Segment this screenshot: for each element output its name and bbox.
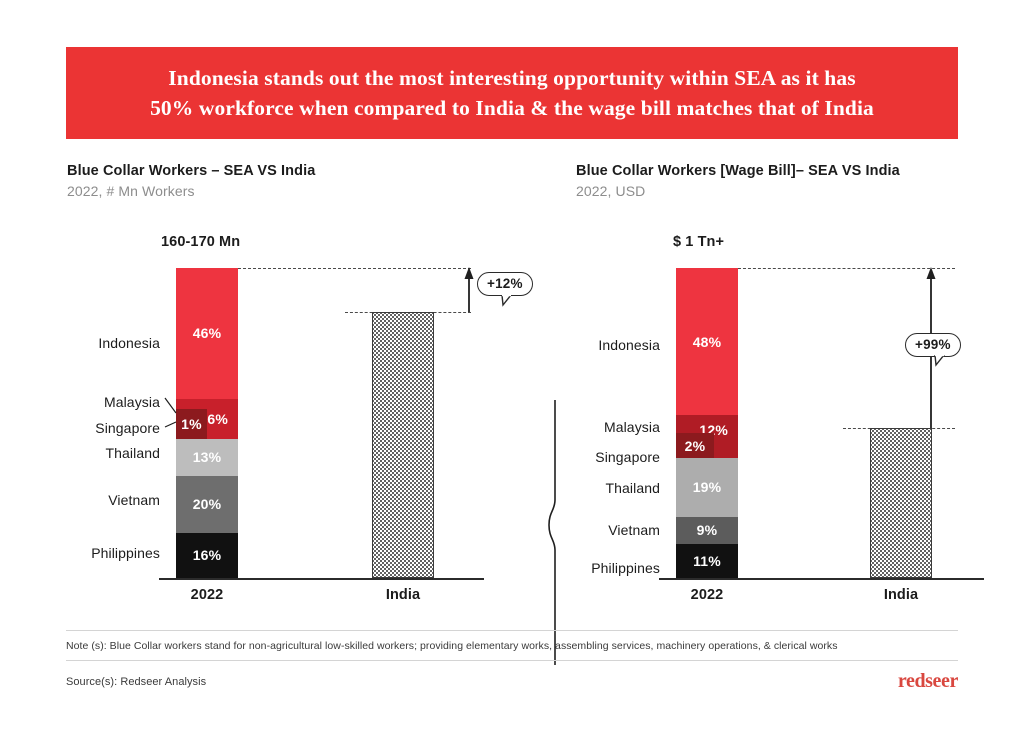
footer-source-row: Source(s): Redseer Analysis redseer — [66, 661, 958, 693]
left-segment-thailand: 13% — [176, 439, 238, 476]
right-cat-label-thailand: Thailand — [555, 480, 660, 496]
left-segment-singapore-value: 6% — [207, 411, 230, 427]
left-segment-philippines-value: 16% — [193, 547, 222, 563]
right-segment-indonesia: 48% — [676, 268, 738, 415]
left-growth-badge: +12% — [477, 272, 533, 296]
right-segment-indonesia-value: 48% — [693, 334, 722, 350]
left-chart-heading: Blue Collar Workers – SEA VS India 2022,… — [67, 163, 315, 199]
left-x-label-2022: 2022 — [147, 587, 267, 603]
right-segment-thailand-value: 19% — [693, 479, 722, 495]
right-india-bar — [870, 428, 932, 578]
left-segment-vietnam-value: 20% — [193, 496, 222, 512]
left-segment-vietnam: 20% — [176, 476, 238, 533]
left-x-label-india: India — [343, 587, 463, 603]
left-segment-indonesia-value: 46% — [193, 325, 222, 341]
left-segment-thailand-value: 13% — [193, 449, 222, 465]
left-total-label: 160-170 Mn — [161, 234, 240, 250]
right-axis-baseline — [659, 578, 984, 580]
right-cat-label-vietnam: Vietnam — [555, 522, 660, 538]
right-segment-thailand: 19% — [676, 458, 738, 516]
left-cat-label-malaysia: Malaysia — [55, 394, 160, 410]
right-chart-title: Blue Collar Workers [Wage Bill]– SEA VS … — [576, 163, 900, 179]
left-axis-baseline — [159, 578, 484, 580]
right-segment-malaysia-value: 2% — [685, 438, 706, 454]
left-badge-tail — [501, 295, 513, 307]
left-top-reference-line — [238, 268, 471, 269]
left-stacked-bar: 46% 6% 1% 13% 20% 16% — [176, 268, 238, 578]
right-segment-philippines: 11% — [676, 544, 738, 578]
right-segment-malaysia-singapore: 12% 2% — [676, 415, 738, 458]
left-segment-malaysia: 1% — [176, 409, 207, 439]
right-chart-subtitle: 2022, USD — [576, 183, 900, 199]
redseer-logo: redseer — [898, 670, 958, 693]
left-cat-label-thailand: Thailand — [55, 445, 160, 461]
right-top-reference-line — [738, 268, 955, 269]
left-segment-philippines: 16% — [176, 533, 238, 579]
footer-source: Source(s): Redseer Analysis — [66, 676, 206, 688]
right-cat-label-malaysia: Malaysia — [555, 419, 660, 435]
left-chart-title: Blue Collar Workers – SEA VS India — [67, 163, 315, 179]
left-india-bar — [372, 312, 434, 578]
headline-text: Indonesia stands out the most interestin… — [150, 63, 874, 123]
left-cat-label-philippines: Philippines — [55, 545, 160, 561]
footer-note: Note (s): Blue Collar workers stand for … — [66, 631, 958, 660]
right-segment-vietnam: 9% — [676, 517, 738, 545]
right-cat-label-singapore: Singapore — [555, 449, 660, 465]
right-cat-label-philippines: Philippines — [555, 560, 660, 576]
left-segment-indonesia: 46% — [176, 268, 238, 399]
left-segment-malaysia-value: 1% — [181, 416, 202, 432]
right-stacked-bar: 48% 12% 2% 19% 9% 11% — [676, 268, 738, 578]
left-cat-label-indonesia: Indonesia — [55, 335, 160, 351]
right-total-label: $ 1 Tn+ — [673, 234, 724, 250]
charts-area: 160-170 Mn 46% 6% 1% 13% 20% 16% — [0, 225, 1024, 615]
left-chart-subtitle: 2022, # Mn Workers — [67, 183, 315, 199]
right-segment-malaysia: 2% — [676, 433, 714, 458]
right-chart-heading: Blue Collar Workers [Wage Bill]– SEA VS … — [576, 163, 900, 199]
left-cat-label-singapore: Singapore — [55, 420, 160, 436]
left-segment-malaysia-singapore: 6% 1% — [176, 399, 238, 439]
right-cat-label-indonesia: Indonesia — [555, 337, 660, 353]
right-growth-badge: +99% — [905, 333, 961, 357]
right-badge-tail — [934, 355, 946, 367]
right-chart-panel: $ 1 Tn+ 48% 12% 2% 19% 9% 11% — [555, 225, 1024, 615]
right-x-label-2022: 2022 — [647, 587, 767, 603]
headline-banner: Indonesia stands out the most interestin… — [66, 47, 958, 139]
right-segment-philippines-value: 11% — [693, 553, 721, 569]
right-segment-vietnam-value: 9% — [697, 522, 718, 538]
left-cat-label-vietnam: Vietnam — [55, 492, 160, 508]
footer: Note (s): Blue Collar workers stand for … — [66, 630, 958, 693]
right-x-label-india: India — [841, 587, 961, 603]
left-chart-panel: 160-170 Mn 46% 6% 1% 13% 20% 16% — [55, 225, 525, 615]
